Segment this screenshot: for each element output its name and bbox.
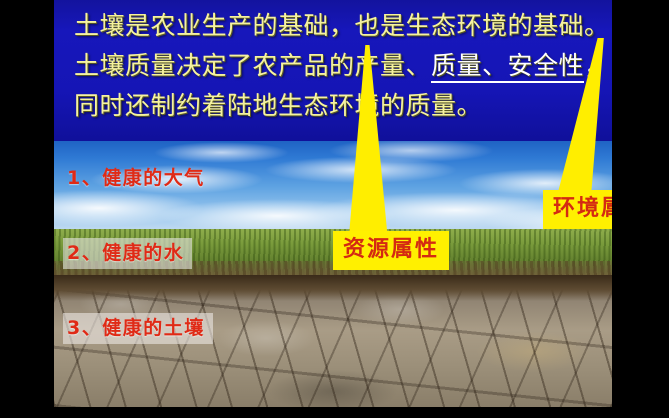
title-panel: 土壤是农业生产的基础，也是生态环境的基础。 土壤质量决定了农产品的产量、质量、安…: [54, 0, 612, 141]
slide-content-frame: 土壤是农业生产的基础，也是生态环境的基础。 土壤质量决定了农产品的产量、质量、安…: [54, 0, 612, 414]
callout-resource-attribute: 资源属性: [333, 231, 449, 270]
side-label-healthy-water: 2、健康的水: [63, 238, 192, 269]
title-line-2-underlined: 质量、安全性: [431, 51, 584, 83]
bottom-letterbox-bar: [54, 407, 612, 414]
title-line-3: 同时还制约着陆地生态环境的质量。: [74, 86, 604, 126]
side-label-healthy-air: 1、健康的大气: [63, 163, 213, 194]
title-line-1-text: 土壤是农业生产的基础，也是生态环境的基础。: [74, 11, 610, 40]
title-line-3-text: 同时还制约着陆地生态环境的质量。: [74, 91, 482, 120]
left-pillarbox-bar: [0, 0, 54, 418]
title-line-2: 土壤质量决定了农产品的产量、质量、安全性，: [74, 46, 604, 86]
title-line-1: 土壤是农业生产的基础，也是生态环境的基础。: [74, 6, 604, 46]
slide-stage: 土壤是农业生产的基础，也是生态环境的基础。 土壤质量决定了农产品的产量、质量、安…: [0, 0, 669, 418]
title-line-2-part-a: 土壤质量决定了农产品的产量、: [74, 51, 431, 80]
title-text-block: 土壤是农业生产的基础，也是生态环境的基础。 土壤质量决定了农产品的产量、质量、安…: [74, 6, 604, 126]
right-pillarbox-bar: [612, 0, 669, 418]
callout-environment-attribute: 环境属性: [543, 190, 612, 229]
side-label-healthy-soil: 3、健康的土壤: [63, 313, 213, 344]
